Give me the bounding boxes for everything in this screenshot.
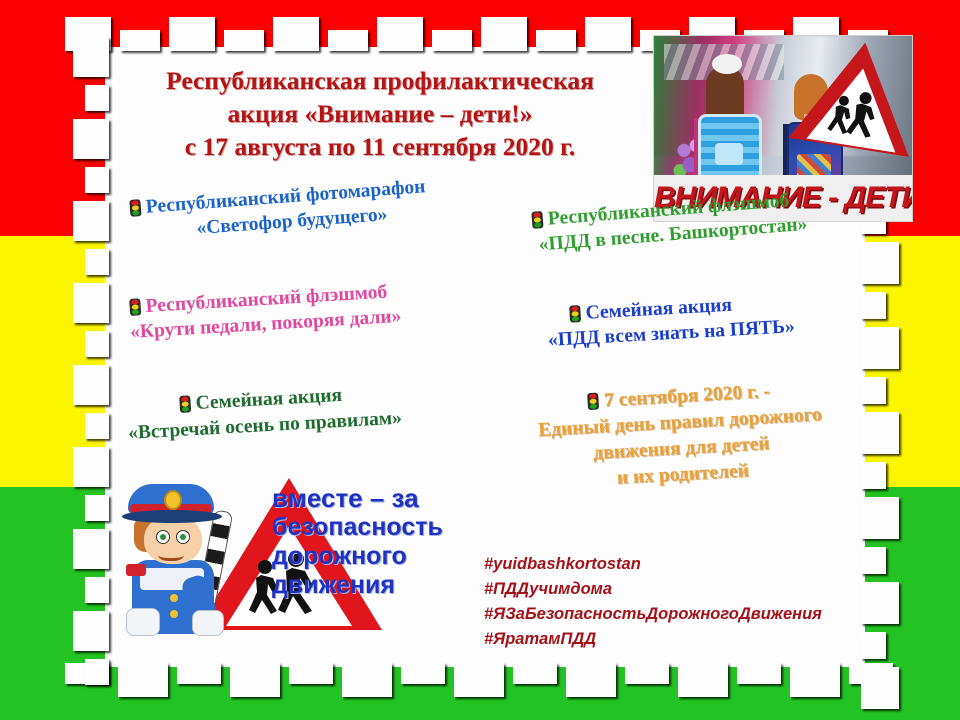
headline-line-2: акция «Внимание – дети!» [120,97,640,130]
traffic-light-icon [587,392,601,410]
logo-line-1: вместе – за [272,484,472,513]
event-item-6: 7 сентября 2020 г. - Единый день правил … [536,376,825,496]
traffic-police-officer [120,484,245,634]
hashtag-4: #ЯратамПДД [484,627,822,652]
children-crossing-sign-icon [796,42,913,150]
officer-eye-left [156,530,170,544]
hashtag-2: #ПДДучимдома [484,577,822,602]
logo-line-4: движения [272,571,472,600]
hashtag-1: #yuidbashkortostan [484,552,822,577]
officer-eye-right [176,530,190,544]
page-title: Республиканская профилактическая акция «… [120,64,640,163]
hair-bow [712,54,742,74]
hashtag-list: #yuidbashkortostan #ПДДучимдома #ЯЗаБезо… [484,552,822,652]
logo-line-3: дорожного [272,542,472,571]
officer-glove-right [192,610,224,636]
officer-smile [158,546,184,561]
hashtag-3: #ЯЗаБезопасностьДорожногоДвижения [484,602,822,627]
traffic-light-icon [178,395,192,413]
logo-line-2: безопасность [272,513,472,542]
traffic-light-icon [128,298,142,316]
officer-epaulet [126,564,146,576]
officer-glove-left [126,608,160,636]
logo-slogan: вместе – за безопасность дорожного движе… [272,484,472,600]
uniform-button-2 [170,610,178,618]
traffic-light-icon [568,305,582,323]
police-cap-badge [164,490,182,510]
poster: Республиканская профилактическая акция «… [0,0,960,720]
traffic-light-icon [530,211,544,229]
headline-line-1: Республиканская профилактическая [120,64,640,97]
headline-line-3: с 17 августа по 11 сентября 2020 г. [120,130,640,163]
traffic-light-icon [128,199,142,217]
road-safety-logo: вместе – за безопасность дорожного движе… [120,470,470,635]
police-cap-brim [122,510,222,523]
uniform-button-1 [170,594,178,602]
children-running-pictogram [827,86,888,142]
